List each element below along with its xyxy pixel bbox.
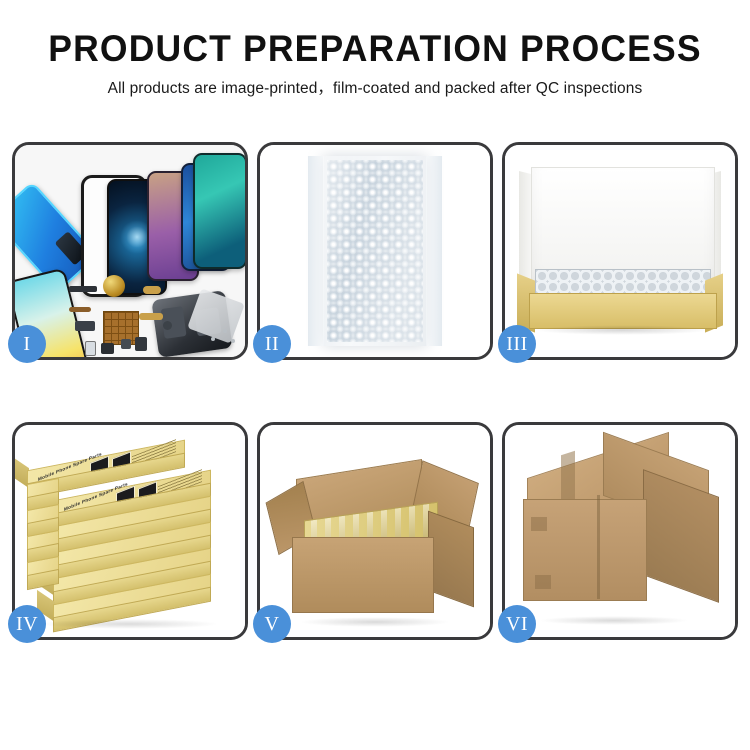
step-badge-4: IV	[8, 605, 46, 643]
process-steps-grid: I II	[12, 142, 738, 677]
carton-body-front	[292, 537, 434, 613]
drop-shadow	[539, 616, 689, 625]
spare-part-icon	[69, 286, 97, 292]
step-badge-2: II	[253, 325, 291, 363]
phone-teal-display-icon	[193, 153, 245, 269]
page-title: PRODUCT PREPARATION PROCESS	[15, 28, 735, 70]
screw-icon	[211, 337, 215, 341]
drop-shadow	[39, 619, 219, 629]
step-panel-2: II	[257, 142, 493, 360]
spare-part-icon	[101, 343, 114, 354]
retail-box-rear	[27, 533, 57, 555]
retail-box-stack-icon: Mobile Phone Spare Parts Mobile Phone Sp…	[21, 445, 243, 629]
retail-box	[53, 589, 209, 611]
retail-box: Mobile Phone Spare Parts	[27, 455, 183, 477]
spare-part-icon	[85, 341, 96, 356]
wrap-edge-right	[426, 156, 442, 346]
camera-lens-icon	[103, 275, 125, 297]
retail-box-rear	[27, 559, 57, 581]
spare-part-icon	[135, 337, 147, 351]
product-preparation-process-page: PRODUCT PREPARATION PROCESS All products…	[0, 0, 750, 750]
step-badge-5: V	[253, 605, 291, 643]
step-image-stacked-retail-boxes: Mobile Phone Spare Parts Mobile Phone Sp…	[15, 425, 245, 637]
step-image-bubble-wrap-protection	[260, 145, 490, 357]
flex-cable-icon	[139, 313, 163, 320]
step-panel-3: III	[502, 142, 738, 360]
step-image-inner-mailer-box	[505, 145, 735, 357]
step-image-products-and-spare-parts	[15, 145, 245, 357]
screw-icon	[223, 329, 227, 333]
spare-part-icon	[69, 307, 91, 312]
wrap-edge-left	[308, 156, 324, 346]
retail-box-rear	[27, 481, 57, 503]
step-panel-5: V	[257, 422, 493, 640]
spare-part-icon	[75, 321, 95, 331]
step-image-sealed-shipping-carton	[505, 425, 735, 637]
step-panel-4: Mobile Phone Spare Parts Mobile Phone Sp…	[12, 422, 248, 640]
spare-part-icon	[121, 339, 131, 349]
drop-shadow	[535, 325, 709, 335]
bubble-wrap-icon	[323, 156, 427, 346]
flex-cable-icon	[143, 286, 161, 294]
retail-box-rear	[27, 507, 57, 529]
drop-shadow	[300, 617, 450, 627]
mailer-box-front	[529, 293, 717, 329]
carton-tab	[535, 575, 551, 589]
step-panel-6: VI	[502, 422, 738, 640]
step-panel-1: I	[12, 142, 248, 360]
step-badge-3: III	[498, 325, 536, 363]
wrap-sheen	[323, 156, 427, 346]
screw-icon	[231, 339, 235, 343]
page-subtitle: All products are image-printed，film-coat…	[0, 79, 750, 99]
carton-tab	[531, 517, 547, 531]
step-badge-6: VI	[498, 605, 536, 643]
step-image-open-shipping-carton	[260, 425, 490, 637]
spare-part-icon	[163, 321, 172, 330]
page-header: PRODUCT PREPARATION PROCESS All products…	[0, 0, 750, 99]
carton-seam	[597, 495, 600, 599]
carton-side-right	[428, 511, 474, 608]
step-badge-1: I	[8, 325, 46, 363]
